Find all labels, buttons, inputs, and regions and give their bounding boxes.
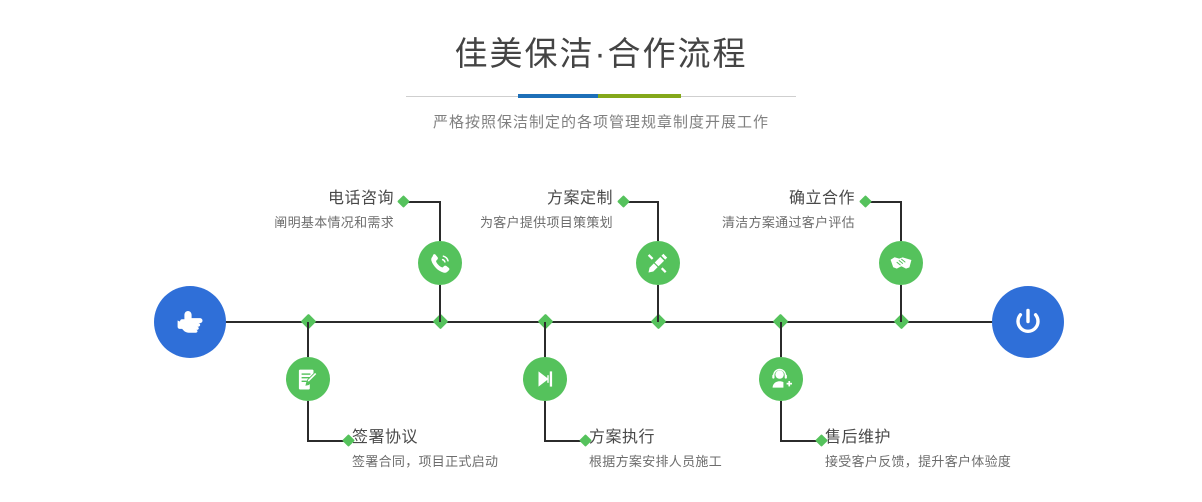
connector-step-5-vertical bbox=[900, 201, 902, 241]
finish-node[interactable] bbox=[992, 286, 1064, 358]
step-label-5-title: 确立合作 bbox=[595, 188, 855, 209]
step-label-3-title: 方案定制 bbox=[353, 188, 613, 209]
connector-step-2-vertical bbox=[307, 401, 309, 441]
power-icon bbox=[1008, 302, 1048, 342]
play-next-icon bbox=[532, 366, 558, 392]
connector-step-2-horizontal bbox=[307, 440, 347, 442]
step-label-6-title: 售后维护 bbox=[825, 427, 1085, 448]
connector-step-4-stem bbox=[544, 322, 546, 357]
process-timeline: 电话咨询 阐明基本情况和需求 签署协议 签署合同，项目正式启动 bbox=[0, 0, 1202, 502]
connector-step-6-vertical bbox=[780, 401, 782, 441]
flow-diagram-page: 佳美保洁·合作流程 严格按照保洁制定的各项管理规章制度开展工作 bbox=[0, 0, 1202, 502]
step-label-4-desc: 根据方案安排人员施工 bbox=[589, 452, 849, 471]
step-label-5: 确立合作 清洁方案通过客户评估 bbox=[595, 188, 855, 232]
step-label-2-desc: 签署合同，项目正式启动 bbox=[352, 452, 612, 471]
step-node-2[interactable] bbox=[286, 357, 330, 401]
connector-step-1-stem bbox=[439, 285, 441, 322]
headset-support-icon bbox=[768, 366, 794, 392]
step-node-1[interactable] bbox=[418, 241, 462, 285]
step-label-3-desc: 为客户提供项目策策划 bbox=[353, 213, 613, 232]
start-node[interactable] bbox=[154, 286, 226, 358]
pointing-hand-icon bbox=[170, 302, 210, 342]
connector-step-4-horizontal bbox=[544, 440, 584, 442]
connector-step-6-stem bbox=[780, 322, 782, 357]
handshake-icon bbox=[888, 250, 914, 276]
step-node-6[interactable] bbox=[759, 357, 803, 401]
connector-step-2-stem bbox=[307, 322, 309, 357]
connector-diamond-step-5 bbox=[859, 195, 872, 208]
pencil-ruler-icon bbox=[645, 250, 671, 276]
step-label-6: 售后维护 接受客户反馈，提升客户体验度 bbox=[825, 427, 1085, 471]
connector-step-5-stem bbox=[900, 285, 902, 322]
step-label-5-desc: 清洁方案通过客户评估 bbox=[595, 213, 855, 232]
connector-step-3-stem bbox=[657, 285, 659, 322]
document-pen-icon bbox=[295, 366, 321, 392]
step-label-2: 签署协议 签署合同，项目正式启动 bbox=[352, 427, 612, 471]
connector-step-4-vertical bbox=[544, 401, 546, 441]
phone-ring-icon bbox=[427, 250, 453, 276]
step-label-4: 方案执行 根据方案安排人员施工 bbox=[589, 427, 849, 471]
step-node-5[interactable] bbox=[879, 241, 923, 285]
step-label-4-title: 方案执行 bbox=[589, 427, 849, 448]
step-node-4[interactable] bbox=[523, 357, 567, 401]
step-label-2-title: 签署协议 bbox=[352, 427, 612, 448]
connector-step-6-horizontal bbox=[780, 440, 820, 442]
step-label-6-desc: 接受客户反馈，提升客户体验度 bbox=[825, 452, 1085, 471]
step-node-3[interactable] bbox=[636, 241, 680, 285]
step-label-3: 方案定制 为客户提供项目策策划 bbox=[353, 188, 613, 232]
